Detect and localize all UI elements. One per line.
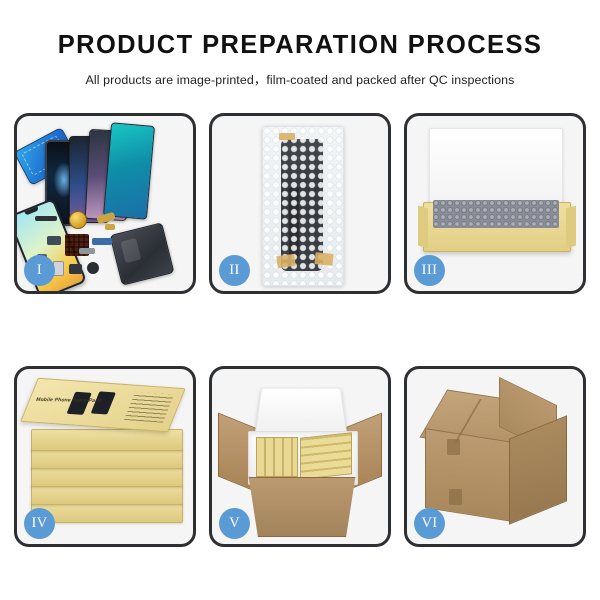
- step-badge-3: III: [414, 255, 445, 286]
- step-badge-4: IV: [24, 508, 55, 539]
- infographic-page: PRODUCT PREPARATION PROCESS All products…: [0, 0, 600, 600]
- tape-strip-icon: [279, 133, 295, 140]
- small-component-icon: [87, 262, 99, 274]
- process-panel-2: II: [209, 113, 391, 294]
- process-panel-4: Mobile Phone Spare Parts IV: [14, 366, 196, 547]
- header: PRODUCT PREPARATION PROCESS All products…: [0, 0, 600, 88]
- process-panel-grid: I II III: [14, 113, 586, 547]
- white-foam-lid-icon: [429, 128, 563, 208]
- small-component-icon: [35, 216, 57, 221]
- carton-front-face: [425, 428, 513, 522]
- brown-carton-body: [244, 477, 360, 537]
- step-badge-5: V: [219, 508, 250, 539]
- yellow-boxes-group: [300, 432, 352, 479]
- process-panel-5: V: [209, 366, 391, 547]
- step-badge-2: II: [219, 255, 250, 286]
- printed-box-label: Mobile Phone Spare Parts: [20, 378, 185, 433]
- carton-tab: [449, 489, 462, 505]
- page-subtitle: All products are image-printed，film-coat…: [0, 70, 600, 88]
- smartphone-display-icon: [103, 122, 155, 219]
- process-panel-3: III: [404, 113, 586, 294]
- small-component-icon: [69, 264, 82, 274]
- yellow-boxes-group: [256, 437, 298, 477]
- tape-strip-icon: [314, 252, 333, 266]
- process-panel-1: I: [14, 113, 196, 294]
- tape-strip-icon: [276, 254, 295, 268]
- bubble-wrap-bag-icon: [262, 126, 344, 286]
- small-component-icon: [105, 224, 115, 230]
- styrofoam-lid-icon: [254, 388, 347, 436]
- carton-tab: [447, 439, 460, 455]
- box-label-text: Mobile Phone Spare Parts: [35, 397, 103, 404]
- small-component-icon: [47, 236, 61, 245]
- gray-foam-insert-icon: [433, 200, 559, 228]
- step-badge-1: I: [24, 255, 55, 286]
- small-component-icon: [92, 238, 112, 245]
- process-panel-6: VI: [404, 366, 586, 547]
- small-component-icon: [79, 248, 95, 254]
- yellow-box-layer: [31, 429, 183, 451]
- printed-text-block: [124, 392, 174, 423]
- speaker-component-icon: [69, 211, 87, 229]
- back-housing-icon: [110, 222, 175, 286]
- page-title: PRODUCT PREPARATION PROCESS: [0, 33, 600, 59]
- step-badge-6: VI: [414, 508, 445, 539]
